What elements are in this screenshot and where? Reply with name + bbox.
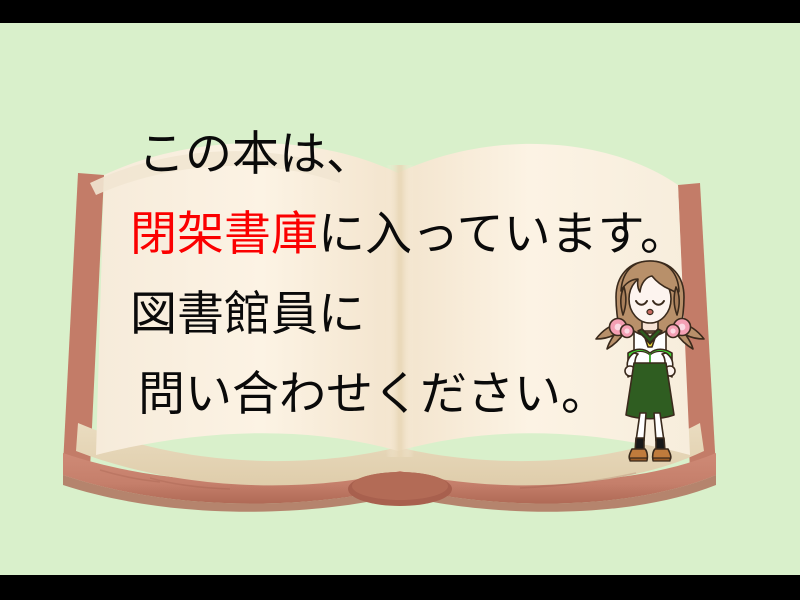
scene-canvas: この本は、 閉架書庫に入っています。 図書館員に 問い合わせください。 [0, 0, 800, 600]
girl-reading-book-illustration [594, 253, 706, 465]
letterbox-bottom [0, 575, 800, 600]
letterbox-top [0, 0, 800, 23]
